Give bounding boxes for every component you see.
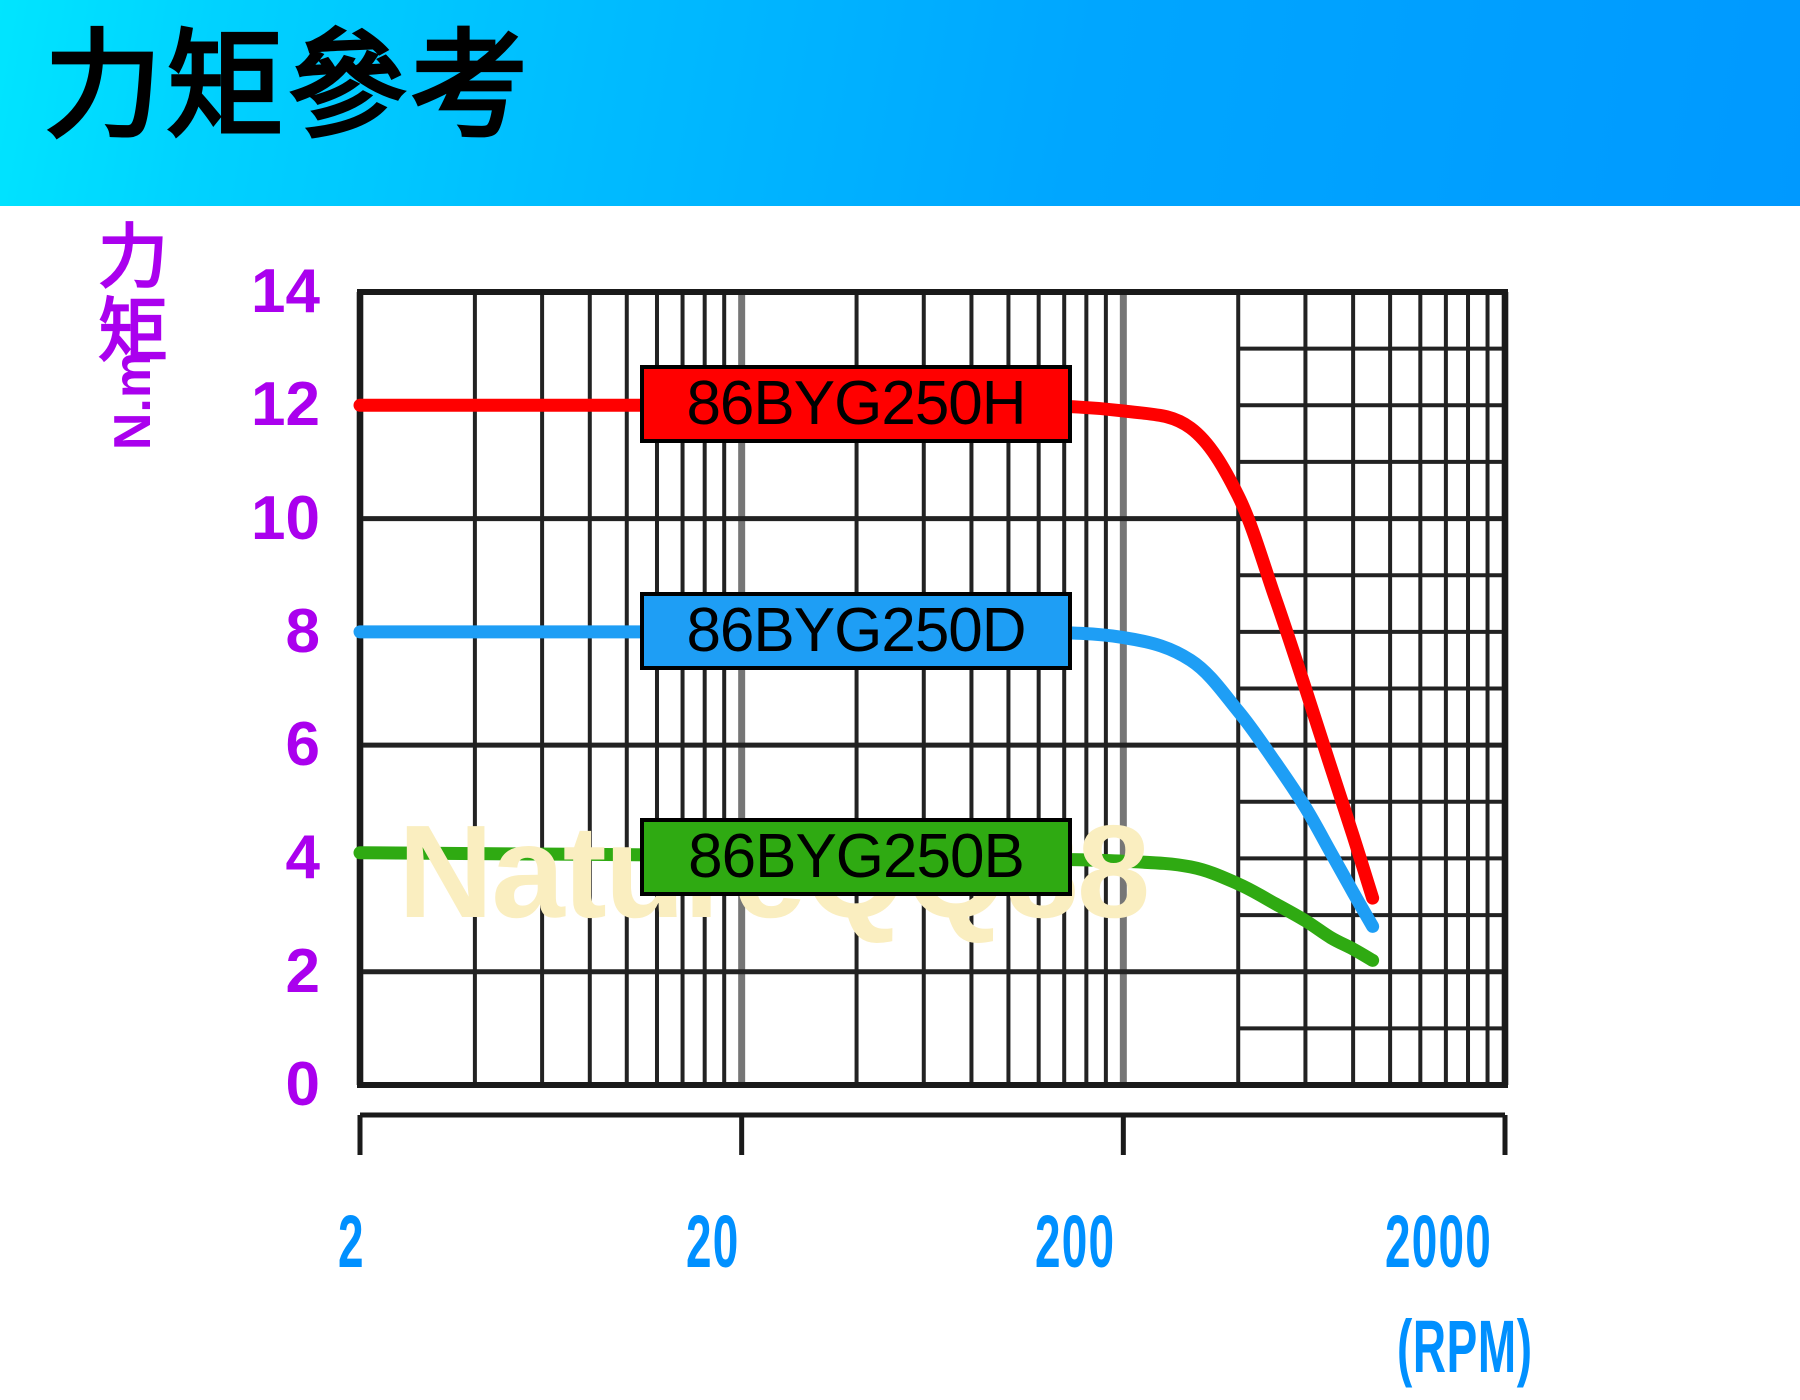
chart-container: 力 矩 N.m 14121086420 NatureQQ88 86BYG250H… (0, 206, 1800, 1400)
legend-label-86BYG250H: 86BYG250H (640, 365, 1072, 443)
x-tick-200: 200 (1035, 1205, 1115, 1279)
x-tick-20: 20 (686, 1205, 740, 1279)
legend-label-86BYG250B: 86BYG250B (640, 818, 1072, 896)
x-tick-2000: 2000 (1385, 1205, 1492, 1279)
legend-label-86BYG250D: 86BYG250D (640, 592, 1072, 670)
x-axis-scale-bar (360, 1115, 1505, 1155)
x-tick-2: 2 (338, 1205, 365, 1279)
page-title: 力矩參考 (44, 22, 532, 152)
header-banner: 力矩參考 (0, 0, 1800, 206)
x-axis-unit-label: (RPM) (1397, 1310, 1533, 1384)
